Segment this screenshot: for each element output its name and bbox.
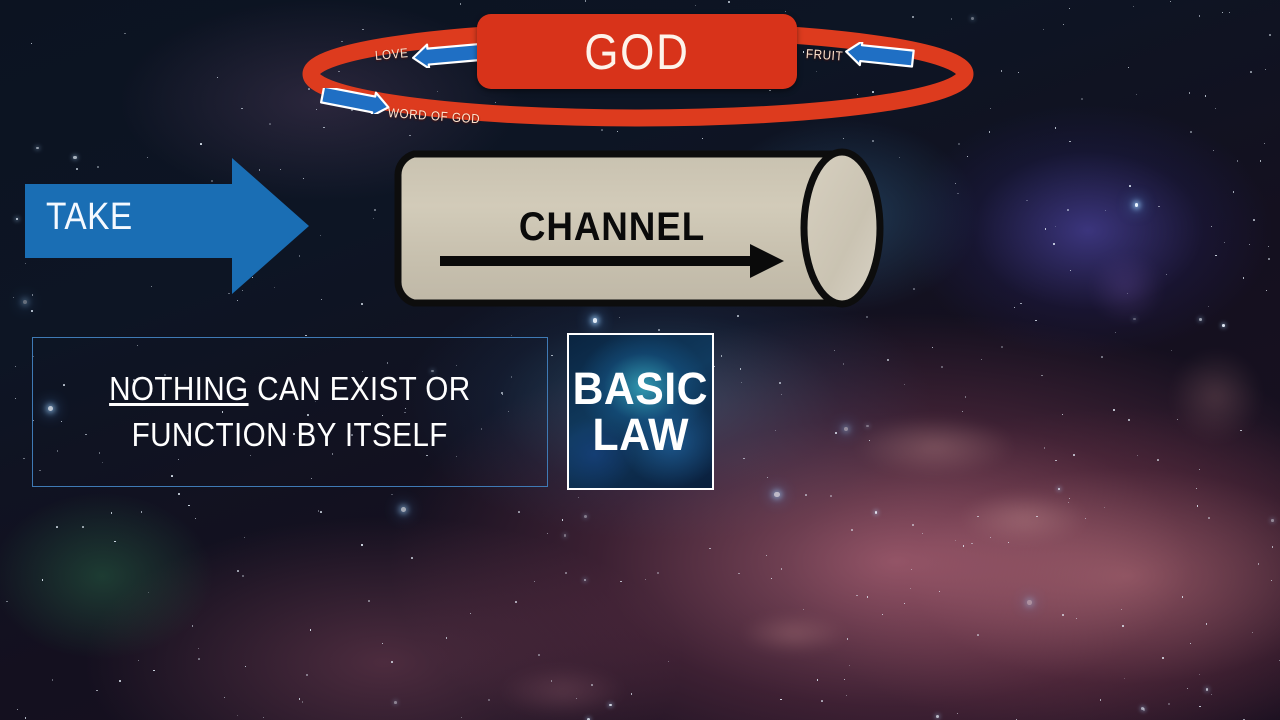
star (31, 310, 33, 312)
star (518, 511, 520, 513)
star (835, 432, 837, 434)
star (1068, 502, 1069, 503)
star (411, 557, 413, 559)
star (990, 537, 991, 538)
star (1229, 12, 1230, 13)
star (645, 579, 646, 580)
star (955, 540, 956, 541)
star (245, 666, 246, 667)
star (237, 715, 239, 717)
star (547, 533, 548, 534)
star (1124, 678, 1125, 679)
star (1237, 160, 1239, 162)
ring-label-fruit: FRUIT (805, 46, 843, 64)
star (1128, 67, 1129, 68)
star (977, 634, 979, 636)
star (17, 709, 18, 710)
star (1058, 488, 1061, 491)
star (620, 581, 621, 582)
star (1055, 226, 1056, 227)
star (1081, 98, 1083, 100)
star (1224, 242, 1225, 243)
star (1272, 546, 1273, 547)
star (1243, 277, 1245, 279)
star (1199, 674, 1201, 676)
star (310, 629, 312, 631)
star (1190, 643, 1191, 644)
star (1001, 70, 1002, 71)
star (1215, 108, 1216, 109)
star (843, 138, 844, 139)
star (962, 411, 963, 412)
star (1143, 708, 1146, 711)
star (910, 588, 911, 589)
star (721, 355, 723, 357)
star (1268, 246, 1269, 247)
star (1258, 563, 1260, 565)
star (941, 366, 943, 368)
star (564, 534, 566, 536)
star (1199, 706, 1200, 707)
star (830, 495, 832, 497)
star (781, 394, 782, 395)
star (990, 108, 991, 109)
star (1137, 455, 1139, 457)
star (1053, 243, 1055, 245)
star (702, 138, 703, 139)
star (844, 679, 845, 680)
star (1182, 596, 1184, 598)
statement-line-1: NOTHING CAN EXIST OR (109, 366, 470, 412)
star (138, 660, 139, 661)
god-box: GOD (477, 14, 797, 89)
star (1085, 518, 1086, 519)
star (1101, 356, 1103, 358)
star (42, 579, 43, 580)
star (36, 147, 39, 150)
statement-emphasis: NOTHING (109, 370, 248, 407)
arrow-right-icon-word (320, 88, 392, 114)
star (374, 209, 376, 211)
star (1045, 228, 1047, 230)
star (967, 156, 968, 157)
star (1016, 719, 1017, 720)
statement-box: NOTHING CAN EXIST OR FUNCTION BY ITSELF (32, 337, 548, 487)
star (847, 638, 848, 639)
star (771, 578, 772, 579)
star (368, 600, 370, 602)
star (631, 693, 633, 695)
star (805, 494, 807, 496)
star (1250, 71, 1252, 73)
star (1001, 346, 1003, 348)
star (25, 717, 27, 719)
star (321, 299, 322, 300)
star (1073, 454, 1075, 456)
star (111, 512, 112, 513)
star (728, 1, 730, 3)
star (1062, 414, 1063, 415)
star (1190, 131, 1192, 133)
star (958, 143, 960, 145)
star (740, 368, 742, 370)
star (971, 543, 973, 545)
slide-canvas: LOVE FRUIT WORD OF GOD GOD (0, 0, 1280, 720)
star (1027, 600, 1032, 605)
star (305, 335, 307, 337)
star (1041, 375, 1042, 376)
star (1253, 219, 1255, 221)
star (1199, 15, 1200, 16)
star (124, 33, 126, 35)
star (1157, 459, 1159, 461)
star (1069, 498, 1070, 499)
star (834, 350, 836, 352)
star (82, 526, 84, 528)
star (882, 614, 883, 615)
star (119, 680, 121, 682)
star (1036, 516, 1037, 517)
star (803, 609, 804, 610)
star (1044, 447, 1045, 448)
star (601, 129, 603, 131)
star (1260, 160, 1261, 161)
star (955, 183, 956, 184)
star (244, 537, 245, 538)
star (1035, 320, 1037, 322)
star (849, 665, 850, 666)
star (1199, 318, 1202, 321)
star (922, 533, 923, 534)
star (1177, 419, 1178, 420)
law-line-2: LAW (592, 412, 688, 458)
star (198, 658, 200, 660)
star (515, 601, 517, 603)
star (904, 384, 905, 385)
star (1168, 703, 1170, 705)
star (394, 701, 397, 704)
star (1205, 95, 1206, 96)
star (195, 518, 196, 519)
star (1170, 1, 1171, 2)
star (584, 579, 586, 581)
star (200, 143, 202, 145)
star (1008, 542, 1009, 543)
star (1211, 226, 1213, 228)
star (578, 497, 579, 498)
star (1043, 29, 1044, 30)
star (470, 613, 471, 614)
star (1158, 206, 1160, 208)
star (13, 297, 14, 298)
star (1055, 127, 1056, 128)
star (766, 555, 768, 557)
star (817, 679, 818, 680)
star (6, 601, 8, 603)
star (1062, 614, 1064, 616)
star (1069, 141, 1070, 142)
star (977, 516, 978, 517)
star (488, 699, 490, 701)
star (932, 347, 933, 348)
star (114, 541, 115, 542)
star (1213, 150, 1214, 151)
star (617, 131, 618, 132)
star (461, 717, 462, 718)
star (851, 529, 853, 531)
star (904, 603, 905, 604)
star (1055, 460, 1057, 462)
star (899, 157, 900, 158)
star (844, 427, 848, 431)
star (562, 519, 563, 520)
star (178, 493, 180, 495)
star (1127, 293, 1128, 294)
star (658, 329, 660, 331)
star (263, 717, 264, 718)
star (409, 135, 410, 136)
star (446, 637, 447, 638)
star (887, 359, 888, 360)
star (781, 568, 782, 569)
star (382, 643, 383, 644)
star (1115, 332, 1116, 333)
star (965, 396, 967, 398)
star (913, 288, 915, 290)
star (1063, 24, 1064, 25)
star (306, 674, 308, 676)
star (52, 679, 54, 681)
star (780, 699, 781, 700)
star (709, 548, 711, 550)
star (609, 704, 612, 707)
star (1166, 274, 1167, 275)
star (534, 581, 535, 582)
star (1100, 699, 1102, 701)
star (1104, 507, 1105, 508)
star (1206, 623, 1208, 625)
law-line-1: BASIC (573, 366, 708, 412)
star (237, 570, 239, 572)
star (1208, 517, 1210, 519)
star (1196, 488, 1198, 490)
star (912, 16, 913, 17)
star (743, 458, 744, 459)
star (141, 511, 142, 512)
star (1162, 657, 1164, 659)
star (192, 625, 193, 626)
star (714, 366, 715, 367)
star (912, 524, 914, 526)
star (565, 572, 567, 574)
star (1197, 505, 1199, 507)
star (1128, 419, 1130, 421)
star (741, 382, 742, 383)
star (774, 492, 780, 498)
star (217, 77, 218, 78)
star (242, 575, 244, 577)
star (320, 235, 321, 236)
star (1121, 609, 1122, 610)
star (963, 545, 964, 546)
star (1240, 430, 1241, 431)
arrow-left-icon-fruit (843, 42, 915, 68)
star (775, 430, 777, 432)
star (779, 382, 781, 384)
star (951, 18, 953, 20)
star (591, 684, 593, 686)
star (695, 5, 696, 6)
star (391, 661, 393, 663)
star (911, 569, 912, 570)
star (866, 425, 869, 428)
star (1026, 200, 1027, 201)
star (846, 695, 848, 697)
star (1222, 12, 1223, 13)
star (299, 698, 301, 700)
star (1122, 625, 1124, 627)
star (1067, 209, 1069, 211)
star (869, 440, 870, 441)
star (971, 17, 974, 20)
star (1199, 469, 1200, 470)
star (1249, 244, 1250, 245)
star (269, 123, 271, 125)
star (1271, 519, 1273, 521)
star (302, 701, 303, 702)
star (96, 690, 97, 691)
star (668, 661, 670, 663)
star (361, 303, 363, 305)
star (1211, 694, 1212, 695)
star (551, 355, 553, 357)
take-label: TAKE (46, 196, 133, 239)
star (15, 398, 16, 399)
star (241, 108, 242, 109)
star (538, 654, 540, 656)
star (737, 315, 739, 317)
star (1215, 255, 1216, 256)
star (1135, 203, 1139, 207)
ring-label-love: LOVE (374, 45, 409, 63)
star (153, 670, 154, 671)
star (576, 698, 577, 699)
star (23, 300, 27, 304)
channel-label: CHANNEL (410, 205, 815, 250)
star (867, 596, 869, 598)
star (1265, 69, 1266, 70)
star (224, 697, 225, 698)
star (373, 218, 374, 219)
star (856, 595, 857, 596)
star (460, 3, 462, 5)
star (738, 573, 739, 574)
star (31, 43, 32, 44)
star (843, 363, 845, 365)
star (401, 507, 406, 512)
star (657, 572, 659, 574)
star (23, 458, 24, 459)
star (585, 0, 586, 1)
star (1271, 580, 1272, 581)
star (148, 592, 149, 593)
star (1208, 306, 1209, 307)
star (361, 544, 362, 545)
star (989, 131, 990, 132)
star (1113, 409, 1115, 411)
star (936, 715, 939, 718)
star (15, 366, 16, 367)
star (1133, 318, 1136, 321)
star (1105, 210, 1106, 211)
star (1076, 618, 1077, 619)
star (320, 511, 322, 513)
star (957, 193, 959, 195)
star (957, 713, 958, 714)
star (1020, 303, 1022, 305)
star (1136, 94, 1137, 95)
star (1189, 92, 1190, 93)
star (56, 526, 58, 528)
star (1129, 185, 1131, 187)
star (1269, 34, 1271, 36)
star (593, 318, 597, 322)
star (551, 680, 553, 682)
star (619, 317, 621, 319)
basic-law-box: BASIC LAW (567, 333, 714, 490)
star (875, 511, 878, 514)
star (939, 591, 940, 592)
star (1233, 191, 1235, 193)
star (866, 316, 868, 318)
star (1187, 688, 1188, 689)
star (1268, 258, 1270, 260)
statement-line-2: FUNCTION BY ITSELF (132, 412, 448, 458)
cylinder-cap (804, 152, 880, 304)
star (198, 648, 199, 649)
star (821, 700, 823, 702)
star (323, 127, 325, 129)
star (1069, 8, 1070, 9)
star (785, 11, 786, 12)
star (1014, 307, 1015, 308)
star (767, 477, 768, 478)
star (511, 335, 512, 336)
star (1266, 290, 1267, 291)
star (391, 494, 392, 495)
star (188, 505, 190, 507)
star (1070, 270, 1071, 271)
star (1133, 6, 1134, 7)
statement-line-1-rest: CAN EXIST OR (249, 370, 471, 407)
star (1018, 72, 1019, 73)
star (1264, 143, 1265, 144)
star (1252, 632, 1254, 634)
god-label: GOD (584, 27, 690, 77)
star (1171, 350, 1172, 351)
star (872, 140, 874, 142)
star (1222, 324, 1225, 327)
star (981, 359, 982, 360)
star (584, 515, 587, 518)
arrow-left-icon-love (410, 42, 482, 68)
star (1206, 688, 1209, 691)
